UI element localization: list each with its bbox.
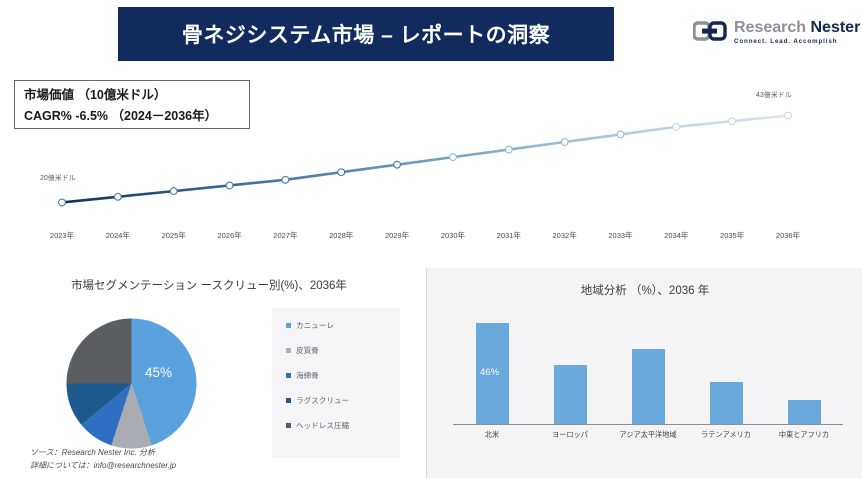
line-data-point: [394, 161, 401, 168]
bar-x-tick-label: 北米: [485, 430, 499, 440]
pie-legend-label: ラグスクリュー: [296, 395, 349, 406]
market-value-line-chart: 20億米ドル 43億米ドル: [0, 60, 862, 255]
bar-x-tick-label: ラテンアメリカ: [701, 430, 751, 440]
line-chart-canvas: [0, 60, 862, 255]
line-data-point: [729, 118, 736, 125]
source-note: ソース：Research Nester Inc. 分析 詳細については：info…: [30, 446, 176, 472]
bar-chart-title: 地域分析 （%）、2036 年: [427, 282, 862, 298]
bar-x-tick-label: 中東とアフリカ: [779, 430, 829, 440]
line-x-tick-label: 2028年: [329, 230, 353, 241]
legend-swatch-icon: [286, 373, 291, 378]
bar-column: [710, 382, 743, 424]
page-header-banner: 骨ネジシステム市場 – レポートの洞察: [118, 7, 614, 61]
line-data-point: [338, 169, 345, 176]
line-x-tick-label: 2023年: [50, 230, 74, 241]
line-x-tick-label: 2033年: [608, 230, 632, 241]
line-data-point: [170, 188, 177, 195]
line-x-tick-label: 2030年: [441, 230, 465, 241]
page-title: 骨ネジシステム市場 – レポートの洞察: [182, 19, 550, 49]
pie-legend-label: カニューレ: [296, 320, 334, 331]
line-x-tick-label: 2036年: [776, 230, 800, 241]
line-x-tick-label: 2026年: [217, 230, 241, 241]
bar-first-value-label: 46%: [480, 367, 499, 378]
line-data-point: [617, 131, 624, 138]
bar-chart-baseline: [453, 424, 843, 425]
line-start-value-label: 20億米ドル: [40, 173, 76, 183]
bar-column: [554, 365, 587, 424]
line-x-tick-label: 2027年: [273, 230, 297, 241]
line-data-point: [114, 193, 121, 200]
brand-logo: Research Nester Connect. Lead. Accomplis…: [693, 13, 853, 53]
line-data-point: [561, 139, 568, 146]
brand-name-second: Nester: [811, 19, 861, 36]
line-data-point: [282, 176, 289, 183]
pie-legend-label: 皮質骨: [296, 345, 319, 356]
pie-largest-slice-label: 45%: [145, 365, 172, 380]
line-x-tick-label: 2029年: [385, 230, 409, 241]
pie-legend-item[interactable]: カニューレ: [286, 320, 394, 331]
legend-swatch-icon: [286, 323, 291, 328]
line-data-point: [450, 154, 457, 161]
research-nester-logo-icon: [693, 19, 727, 48]
pie-legend-item[interactable]: ヘッドレス圧縮: [286, 420, 394, 431]
bar-column: [788, 400, 821, 424]
line-data-point: [59, 199, 66, 206]
source-line-2: 詳細については：info@researchnester.jp: [30, 459, 176, 472]
line-data-point: [673, 123, 680, 130]
legend-swatch-icon: [286, 398, 291, 403]
pie-chart-canvas: [64, 316, 199, 451]
line-data-point: [785, 112, 792, 119]
pie-chart-title: 市場セグメンテーション ースクリュー別(%)、2036年: [44, 278, 374, 295]
pie-legend-item[interactable]: ラグスクリュー: [286, 395, 394, 406]
bar-chart-x-axis: 北米ヨーロッパアジア太平洋地域ラテンアメリカ中東とアフリカ: [453, 430, 843, 446]
bar-x-tick-label: ヨーロッパ: [552, 430, 588, 440]
pie-legend-label: ヘッドレス圧縮: [296, 420, 349, 431]
brand-name: Research Nester: [734, 20, 860, 36]
pie-legend-label: 海綿骨: [296, 370, 319, 381]
line-x-tick-label: 2032年: [553, 230, 577, 241]
bar-column: [632, 349, 665, 424]
brand-name-first: Research: [734, 19, 811, 36]
source-line-1: ソース：Research Nester Inc. 分析: [30, 446, 176, 459]
legend-swatch-icon: [286, 423, 291, 428]
pie-legend-item[interactable]: 皮質骨: [286, 345, 394, 356]
line-chart-x-axis: 2023年2024年2025年2026年2027年2028年2029年2030年…: [0, 230, 862, 248]
pie-chart-graphic: [64, 316, 199, 451]
brand-text: Research Nester Connect. Lead. Accomplis…: [734, 20, 860, 45]
line-x-tick-label: 2035年: [720, 230, 744, 241]
regional-analysis-panel: 地域分析 （%）、2036 年 46% 北米ヨーロッパアジア太平洋地域ラテンアメ…: [426, 268, 862, 478]
line-x-tick-label: 2031年: [497, 230, 521, 241]
line-x-tick-label: 2025年: [162, 230, 186, 241]
line-x-tick-label: 2034年: [664, 230, 688, 241]
pie-slice: [67, 319, 132, 384]
bar-x-tick-label: アジア太平洋地域: [619, 430, 676, 440]
line-data-point: [505, 146, 512, 153]
line-x-tick-label: 2024年: [106, 230, 130, 241]
brand-tagline: Connect. Lead. Accomplish: [734, 39, 860, 45]
segmentation-pie-panel: 市場セグメンテーション ースクリュー別(%)、2036年 45% カニューレ皮質…: [14, 268, 414, 478]
legend-swatch-icon: [286, 348, 291, 353]
bar-chart-plot: [453, 314, 843, 424]
line-data-point: [226, 182, 233, 189]
pie-chart-legend: カニューレ皮質骨海綿骨ラグスクリューヘッドレス圧縮: [272, 308, 400, 458]
line-end-value-label: 43億米ドル: [756, 90, 792, 100]
pie-legend-item[interactable]: 海綿骨: [286, 370, 394, 381]
